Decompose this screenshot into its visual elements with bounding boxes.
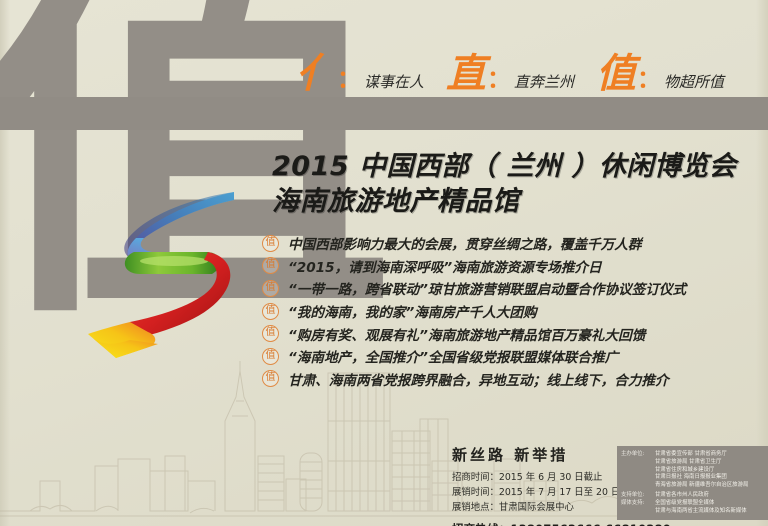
organizers-support-label: 支持单位: — [621, 492, 655, 498]
gray-horizontal-band — [0, 97, 768, 130]
slogan-item-2: 直 ： 直奔兰州 — [446, 54, 574, 94]
title-line-2: 海南旅游地产精品馆 — [272, 185, 762, 220]
slogan-colon-3: ： — [637, 59, 661, 94]
organizers-host-value: 甘肃省旅游局 甘肃省卫生厅 — [655, 459, 768, 467]
zhi-bullet-icon: 值 — [262, 325, 279, 342]
organizers-host-value: 青海省旅游局 新疆维吾尔自治区旅游局 — [655, 482, 768, 490]
slogan-big-char-3: 值 — [596, 54, 636, 94]
ribbon-s-logo — [86, 190, 236, 360]
zhi-bullet-icon: 值 — [262, 303, 279, 320]
organizers-media-value: 全国省级党报联盟全媒体 — [655, 500, 768, 508]
zhi-bullet-icon: 值 — [262, 257, 279, 274]
zhi-bullet-icon: 值 — [262, 235, 279, 252]
zhi-bullet-icon: 值 — [262, 370, 279, 387]
slogan-big-char-1: 亻 — [296, 54, 336, 94]
list-item-label: 甘肃、海南两省党报跨界融合，异地互动；线上线下，合力推介 — [288, 369, 669, 389]
hotline-text: 招商热线：13807562666 66810280 — [452, 521, 652, 526]
slogan-row: 亻 ： 谋事在人 直 ： 直奔兰州 值 ： 物超所值 — [296, 32, 748, 94]
slogan-colon-2: ： — [487, 59, 511, 94]
list-item: 值 “2015，请到海南深呼吸”海南旅游资源专场推介日 — [262, 255, 762, 278]
organizers-host-row: 主办单位: 甘肃省委宣传部 甘肃省商务厅 甘肃省旅游局 甘肃省卫生厅 甘肃省住房… — [621, 451, 768, 490]
organizers-support-values: 甘肃省各市州人民政府 — [655, 492, 768, 500]
list-item: 值 甘肃、海南两省党报跨界融合，异地互动；线上线下，合力推介 — [262, 368, 762, 391]
poster-canvas: 值 — [0, 0, 768, 526]
list-item: 值 中国西部影响力最大的会展，贯穿丝绸之路，覆盖千万人群 — [262, 232, 762, 255]
title-line-1: 2015 中国西部（ 兰州 ）休闲博览会 — [272, 150, 762, 185]
slogan-subtext-1: 谋事在人 — [364, 71, 424, 92]
slogan-item-3: 值 ： 物超所值 — [596, 54, 724, 94]
list-item: 值 “我的海南，我的家”海南房产千人大团购 — [262, 300, 762, 323]
list-item: 值 “海南地产，全国推介”全国省级党报联盟媒体联合推广 — [262, 345, 762, 368]
page-title: 2015 中国西部（ 兰州 ）休闲博览会 海南旅游地产精品馆 — [272, 150, 762, 219]
organizers-support-value: 甘肃省各市州人民政府 — [655, 492, 768, 500]
organizers-support-row: 支持单位: 甘肃省各市州人民政府 — [621, 492, 768, 500]
list-item-label: 中国西部影响力最大的会展，贯穿丝绸之路，覆盖千万人群 — [288, 233, 641, 253]
organizers-media-value: 甘肃与海南两省主流媒体及知名新媒体 — [655, 508, 768, 516]
list-item-label: “2015，请到海南深呼吸”海南旅游资源专场推介日 — [288, 256, 602, 276]
zhi-bullet-icon: 值 — [262, 280, 279, 297]
list-item-label: “购房有奖、观展有礼”海南旅游地产精品馆百万豪礼大回馈 — [288, 324, 645, 344]
list-item: 值 “一带一路，跨省联动”琼甘旅游营销联盟启动暨合作协议签订仪式 — [262, 277, 762, 300]
slogan-big-char-2: 直 — [446, 54, 486, 94]
organizers-box: 主办单位: 甘肃省委宣传部 甘肃省商务厅 甘肃省旅游局 甘肃省卫生厅 甘肃省住房… — [617, 446, 768, 520]
organizers-media-values: 全国省级党报联盟全媒体 甘肃与海南两省主流媒体及知名新媒体 — [655, 500, 768, 516]
list-item-label: “一带一路，跨省联动”琼甘旅游营销联盟启动暨合作协议签订仪式 — [288, 278, 686, 298]
slogan-subtext-3: 物超所值 — [664, 71, 724, 92]
organizers-host-label: 主办单位: — [621, 451, 655, 457]
slogan-item-1: 亻 ： 谋事在人 — [296, 54, 424, 94]
list-item: 值 “购房有奖、观展有礼”海南旅游地产精品馆百万豪礼大回馈 — [262, 322, 762, 345]
highlight-list: 值 中国西部影响力最大的会展，贯穿丝绸之路，覆盖千万人群 值 “2015，请到海… — [262, 232, 762, 390]
list-item-label: “我的海南，我的家”海南房产千人大团购 — [288, 301, 537, 321]
organizers-host-value: 甘肃省委宣传部 甘肃省商务厅 — [655, 451, 768, 459]
slogan-colon-1: ： — [337, 59, 361, 94]
organizers-media-label: 媒体支持: — [621, 500, 655, 506]
zhi-bullet-icon: 值 — [262, 348, 279, 365]
organizers-host-values: 甘肃省委宣传部 甘肃省商务厅 甘肃省旅游局 甘肃省卫生厅 甘肃省住房和城乡建设厅… — [655, 451, 768, 490]
organizers-media-row: 媒体支持: 全国省级党报联盟全媒体 甘肃与海南两省主流媒体及知名新媒体 — [621, 500, 768, 516]
slogan-subtext-2: 直奔兰州 — [514, 71, 574, 92]
list-item-label: “海南地产，全国推介”全国省级党报联盟媒体联合推广 — [288, 346, 618, 366]
